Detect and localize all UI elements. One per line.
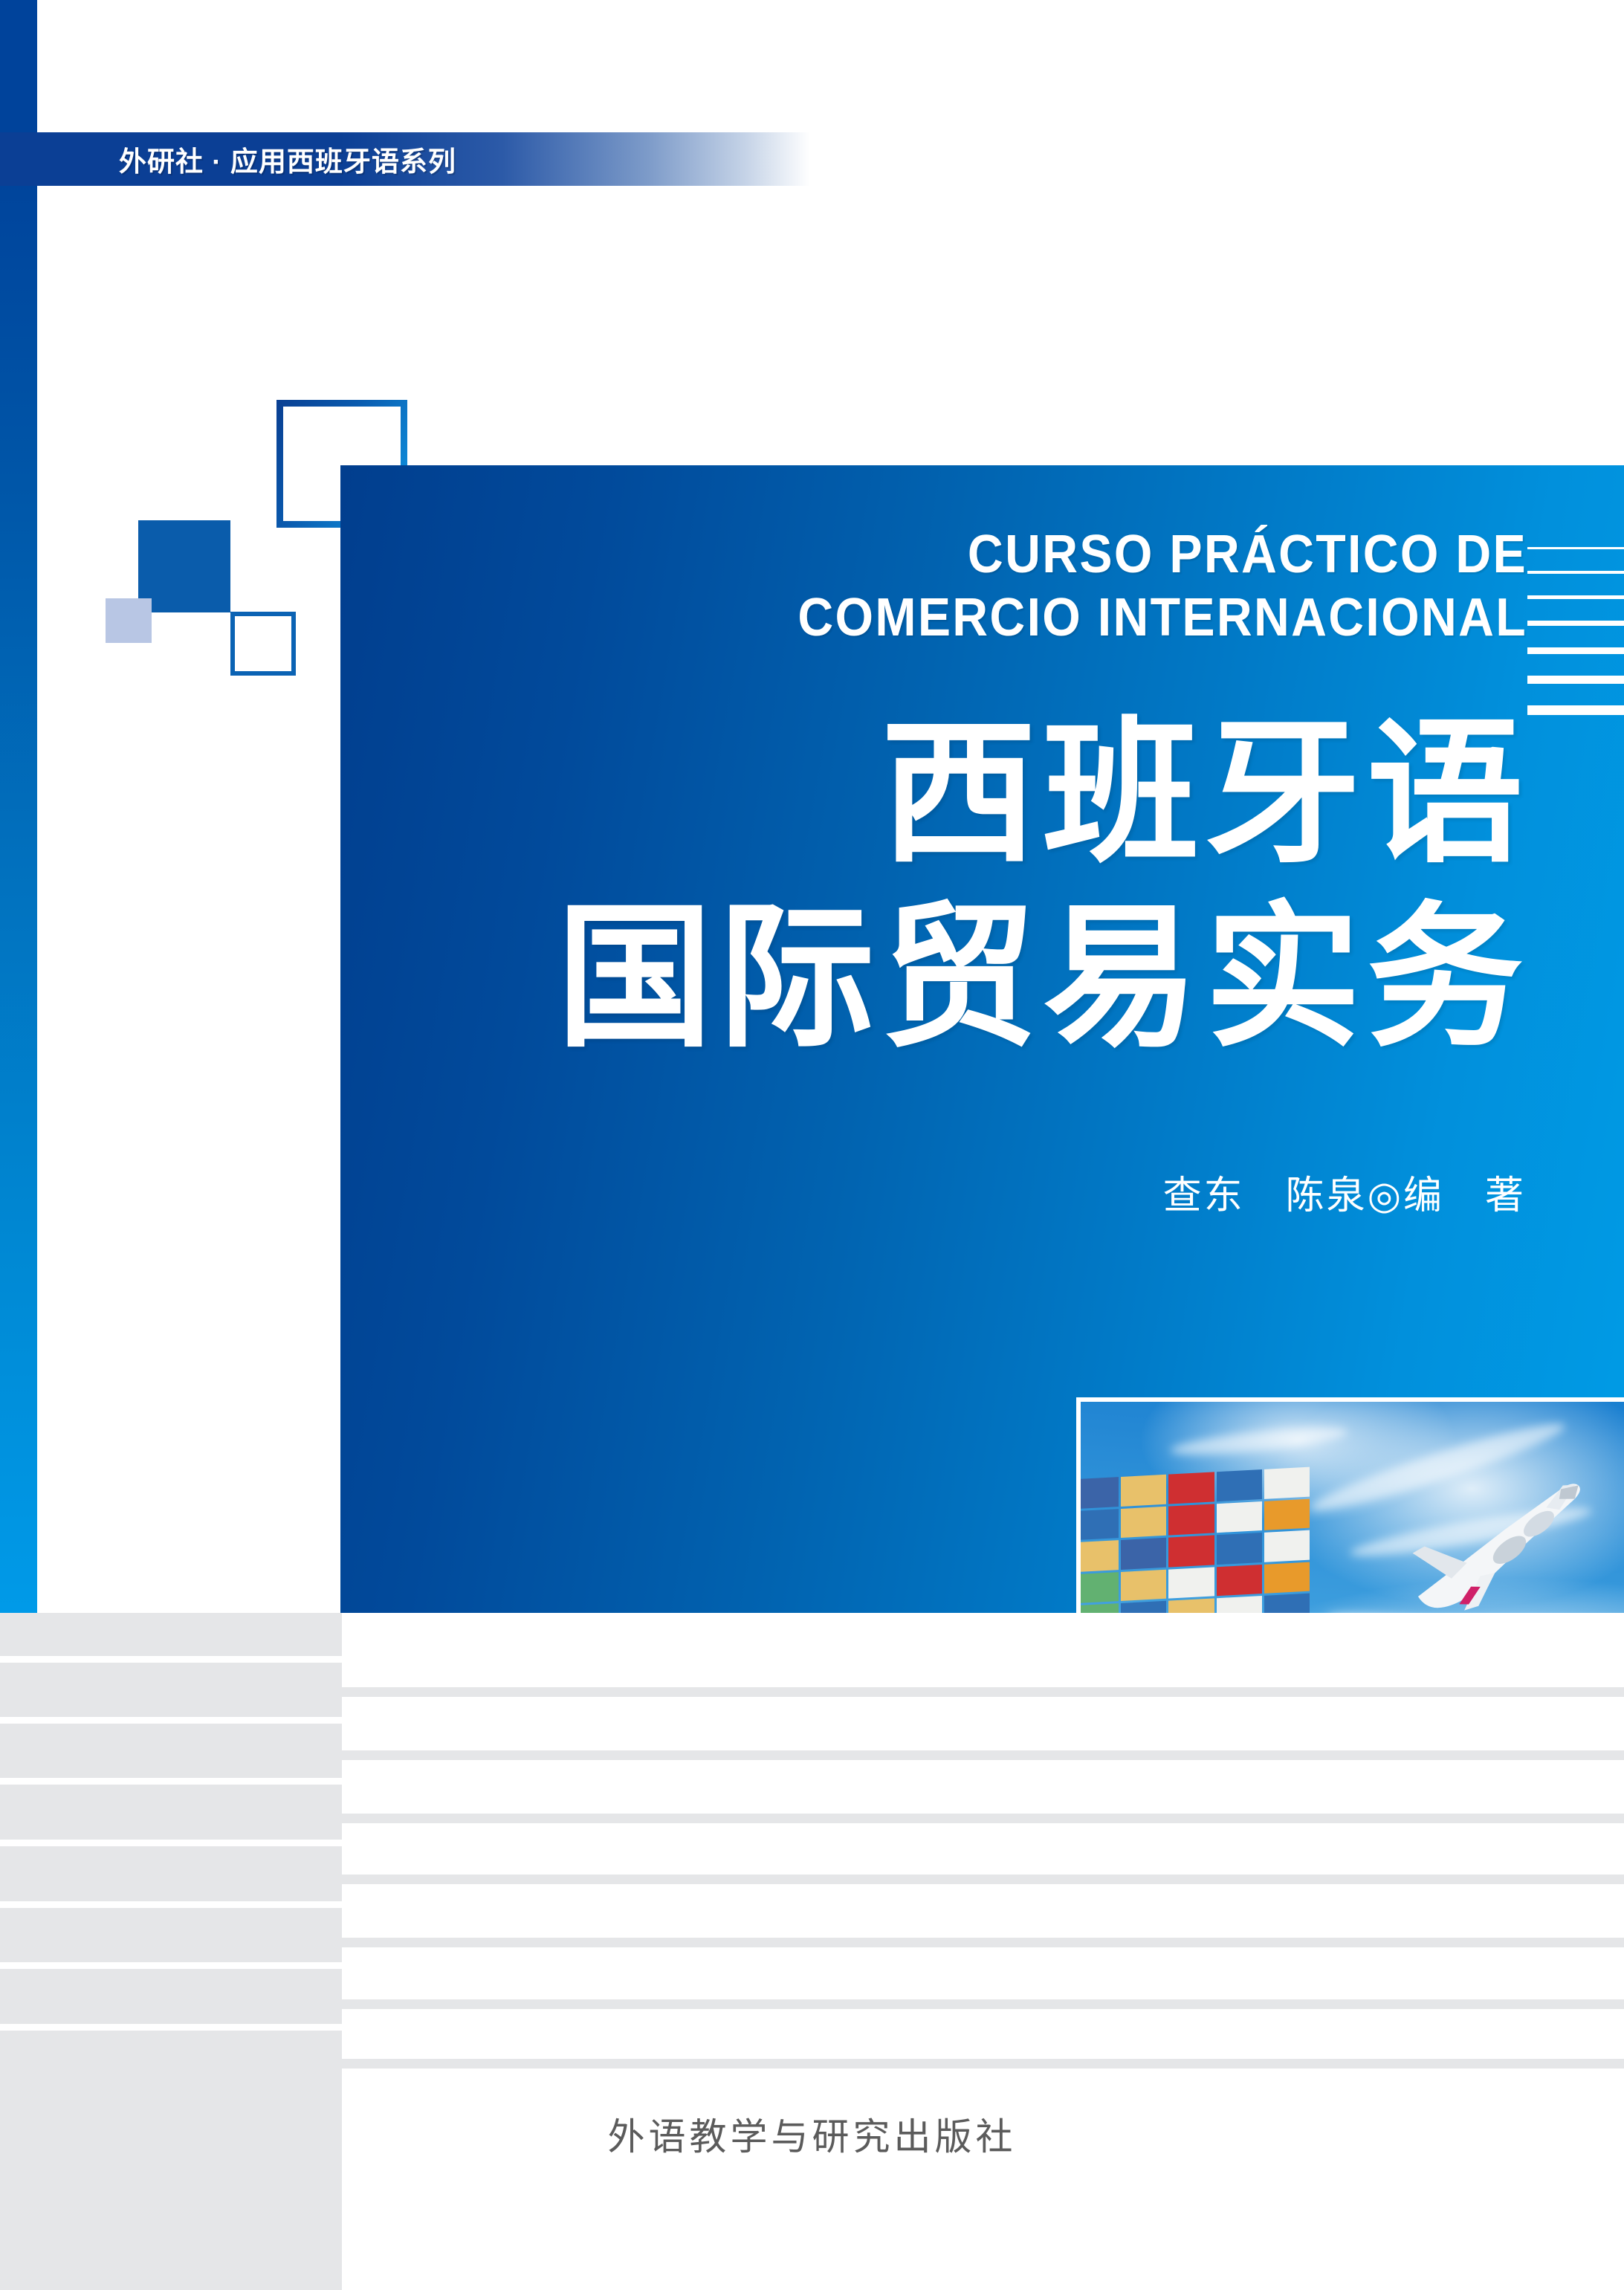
stripe-gap bbox=[0, 1778, 342, 1785]
stripe-hairline bbox=[342, 1750, 1624, 1760]
decorative-square-outline-small bbox=[230, 612, 296, 676]
stripe-gap bbox=[0, 2024, 342, 2031]
rule-6 bbox=[1527, 676, 1624, 684]
stripe-hairline bbox=[342, 1875, 1624, 1884]
rule-1 bbox=[1527, 547, 1624, 549]
rule-3 bbox=[1527, 595, 1624, 599]
stripe-hairline bbox=[342, 1687, 1624, 1697]
author-line: 查东 陈泉◎编 著 bbox=[1163, 1164, 1526, 1220]
series-banner: 外研社 · 应用西班牙语系列 bbox=[0, 132, 810, 186]
spanish-subtitle-line2: COMERCIO INTERNACIONAL bbox=[436, 586, 1527, 650]
stripe-hairline bbox=[342, 1938, 1624, 1947]
rule-7 bbox=[1527, 705, 1624, 715]
stripe-gap bbox=[0, 1962, 342, 1969]
rule-5 bbox=[1527, 647, 1624, 654]
stripe-left-column bbox=[0, 1613, 342, 2290]
rule-4 bbox=[1527, 621, 1624, 626]
main-title-line1: 西班牙语 bbox=[557, 702, 1529, 886]
stripe-gap bbox=[0, 1901, 342, 1908]
decorative-rules bbox=[1527, 547, 1624, 737]
series-banner-label: 外研社 · 应用西班牙语系列 bbox=[119, 139, 456, 179]
spanish-subtitle-line1: CURSO PRÁCTICO DE bbox=[968, 525, 1527, 584]
publisher-name: 外语教学与研究出版社 bbox=[0, 2107, 1624, 2161]
book-cover: 外研社 · 应用西班牙语系列 CURSO PRÁCTICO DE COMERCI… bbox=[0, 0, 1624, 2290]
main-title: 西班牙语 国际贸易实务 bbox=[557, 702, 1529, 1070]
rule-2 bbox=[1527, 571, 1624, 574]
spanish-subtitle: CURSO PRÁCTICO DE COMERCIO INTERNACIONAL bbox=[436, 523, 1527, 650]
stripe-hairline bbox=[342, 1814, 1624, 1823]
decorative-square-lavender bbox=[106, 598, 152, 643]
decorative-square-filled bbox=[138, 520, 230, 612]
stripe-gap bbox=[0, 1840, 342, 1846]
main-title-line2: 国际贸易实务 bbox=[557, 886, 1529, 1070]
bottom-stripe-pattern bbox=[0, 1613, 1624, 2290]
left-accent-stripe bbox=[0, 0, 37, 1613]
stripe-gap bbox=[0, 1656, 342, 1663]
stripe-hairline bbox=[342, 1999, 1624, 2009]
stripe-gap bbox=[0, 1717, 342, 1724]
stripe-hairline bbox=[342, 2059, 1624, 2069]
stripe-right-column bbox=[342, 1613, 1624, 2290]
